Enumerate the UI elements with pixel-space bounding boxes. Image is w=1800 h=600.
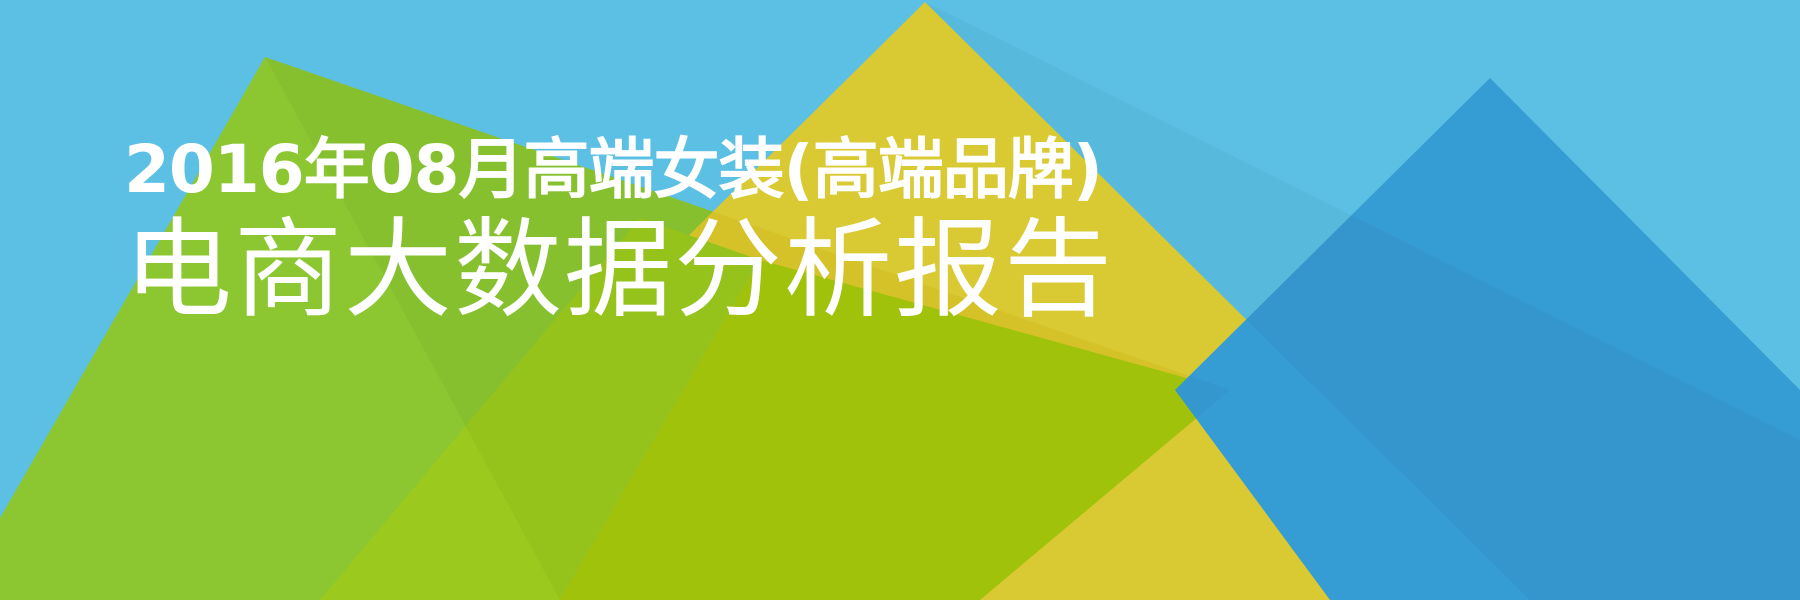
background-geometry bbox=[0, 0, 1800, 600]
report-cover-banner: 2016年08月高端女装(高端品牌) 电商大数据分析报告 bbox=[0, 0, 1800, 600]
